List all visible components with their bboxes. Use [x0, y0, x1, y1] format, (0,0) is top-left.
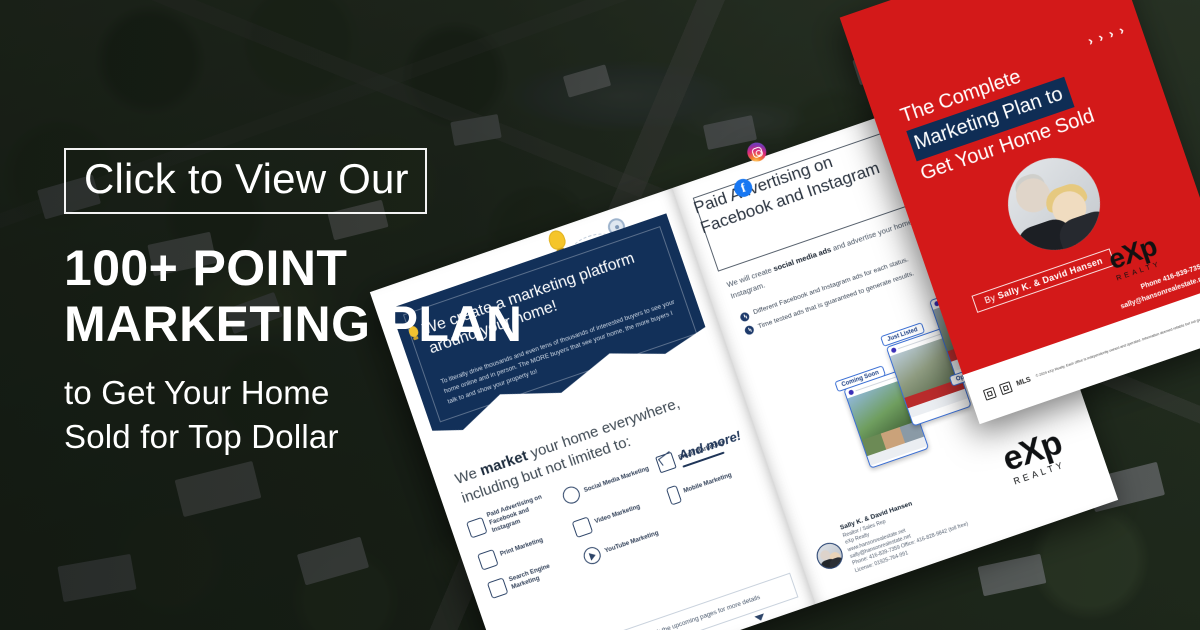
- channel-label: Search Engine Marketing: [508, 553, 581, 591]
- realtor-icon: [999, 381, 1013, 395]
- headline-line-1: 100+ POINT: [64, 240, 524, 296]
- headline-line-2: MARKETING PLAN: [64, 296, 524, 352]
- avatar: [891, 347, 897, 353]
- cta-label: Click to View Our: [84, 158, 409, 200]
- channel-label: Mobile Marketing: [683, 472, 733, 496]
- mobile-phone-icon: [666, 485, 682, 506]
- equal-housing-icon: [983, 386, 997, 400]
- agent-avatar: [813, 539, 846, 572]
- mls-label: MLS: [1015, 376, 1031, 387]
- lightbulb-icon: [546, 228, 567, 251]
- footer-note-text: Check the upcoming pages for more detail…: [642, 593, 761, 630]
- channel-label: Video Marketing: [594, 503, 642, 526]
- newspaper-icon: [477, 549, 499, 571]
- subheadline-line-2: Sold for Top Dollar: [64, 416, 524, 458]
- channel-label: YouTube Marketing: [604, 529, 660, 555]
- share-nodes-icon: [561, 484, 583, 506]
- subheadline-line-1: to Get Your Home: [64, 372, 524, 414]
- envelope-icon: [655, 452, 677, 474]
- magnifier-grid-icon: [487, 578, 509, 600]
- play-button-icon: [581, 545, 603, 567]
- exp-realty-logo: eXp REALTY: [998, 424, 1069, 488]
- hero-text-block: Click to View Our 100+ POINT MARKETING P…: [64, 148, 524, 458]
- check-circle-icon: [739, 311, 750, 322]
- channel-label: Social Media Marketing: [583, 465, 650, 495]
- click-to-view-cta[interactable]: Click to View Our: [64, 148, 427, 214]
- down-arrow-icon: [754, 613, 765, 622]
- qr-grid-icon: [466, 517, 488, 539]
- check-circle-icon: [744, 324, 755, 335]
- avatar: [848, 389, 854, 395]
- byline-prefix: By: [983, 292, 997, 305]
- video-camera-icon: [572, 516, 594, 538]
- channel-label: Print Marketing: [499, 537, 544, 559]
